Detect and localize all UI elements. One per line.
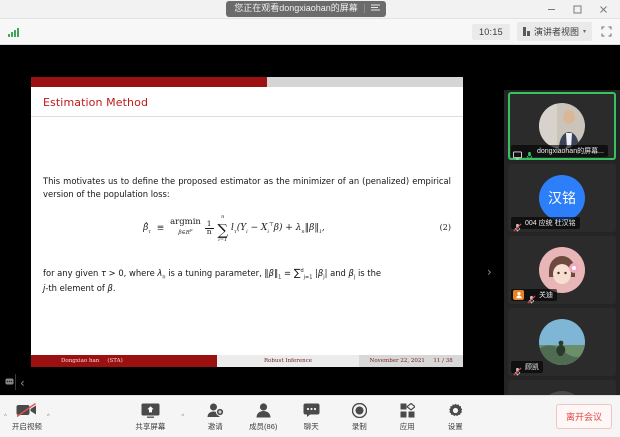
share-screen-button[interactable]: 共享屏幕 — [133, 402, 167, 432]
gear-icon — [448, 402, 463, 419]
slide-footer: Dongxiao han (STA) Robust Inference Nove… — [31, 355, 463, 367]
controls-right: 离开会议 — [556, 404, 620, 429]
screen-share-notice-text: 您正在观看dongxiaohan的屏幕 — [234, 4, 358, 13]
hamburger-icon[interactable] — [364, 4, 380, 13]
audio-options-caret[interactable]: ^ — [4, 414, 7, 420]
meeting-controls-bar: ^ 开启视频 ^ — [0, 395, 620, 437]
video-options-caret[interactable]: ^ — [47, 414, 50, 420]
footer-date: November 22, 2021 — [370, 358, 425, 364]
start-video-button[interactable]: 开启视频 — [10, 402, 44, 432]
screen-share-notice: 您正在观看dongxiaohan的屏幕 — [226, 1, 386, 17]
controls-center: 共享屏幕 ^ 邀请 — [133, 402, 472, 432]
chat-label: 聊天 — [304, 421, 319, 432]
share-screen-icon — [141, 402, 160, 419]
footer-page: 11 / 38 — [433, 358, 452, 364]
record-label: 录制 — [352, 421, 367, 432]
slide-footer-topic: Robust Inference — [217, 355, 360, 367]
zoom-meeting-window: 您正在观看dongxiaohan的屏幕 10:15 — [0, 0, 620, 437]
footer-author-name: Dongxiao han — [61, 358, 99, 364]
apps-grid-icon — [400, 402, 415, 419]
speaker-view-icon — [523, 27, 530, 36]
participant-namebar: 004 应统 杜汉铭 — [511, 217, 580, 229]
equation-argmin: argmin β∈Rp — [170, 218, 201, 237]
avatar — [539, 319, 585, 365]
invite-person-icon — [207, 402, 224, 419]
invite-button[interactable]: 邀请 — [198, 402, 232, 432]
window-controls — [538, 0, 616, 19]
avatar — [539, 247, 585, 293]
record-icon — [352, 402, 367, 419]
participant-namebar: 顾凯 — [511, 361, 543, 373]
mic-muted-icon — [513, 363, 522, 372]
share-screen-label: 共享屏幕 — [135, 421, 165, 432]
presentation-slide: Estimation Method This motivates us to d… — [31, 77, 463, 367]
invite-label: 邀请 — [208, 421, 223, 432]
slide-equation-row: β̂τ ≡ argmin β∈Rp 1n n ∑ i=1 — [43, 212, 451, 244]
slide-title-rule — [31, 116, 463, 117]
footer-author-affiliation: (STA) — [107, 358, 122, 364]
minimize-icon[interactable] — [538, 0, 564, 19]
participant-name: 关迪 — [539, 290, 553, 300]
title-bar: 您正在观看dongxiaohan的屏幕 — [0, 0, 620, 19]
chevron-down-icon: ▾ — [583, 28, 586, 35]
apps-button[interactable]: 应用 — [390, 402, 424, 432]
slide-header-bar — [31, 77, 463, 87]
participants-icon — [255, 402, 272, 419]
apps-label: 应用 — [400, 421, 415, 432]
mic-muted-icon — [513, 219, 522, 228]
slide-footer-author: Dongxiao han (STA) — [31, 355, 217, 367]
slide-equation: β̂τ ≡ argmin β∈Rp 1n n ∑ i=1 — [43, 212, 425, 244]
slide-title: Estimation Method — [31, 87, 463, 109]
equation-fraction: 1n — [205, 220, 214, 236]
participants-label: 成员(86) — [249, 421, 277, 432]
toolbar-divider — [15, 374, 16, 390]
meeting-info-right: 10:15 演讲者视图 ▾ — [472, 22, 620, 41]
close-icon[interactable] — [590, 0, 616, 19]
equation-summation: n ∑ i=1 — [217, 212, 228, 244]
next-slide-arrow[interactable]: › — [487, 265, 492, 279]
slide-body: This motivates us to define the proposed… — [31, 175, 463, 295]
share-options-caret[interactable]: ^ — [181, 414, 184, 420]
participant-namebar: dongxiaohan的屏幕... — [511, 145, 608, 157]
previous-slide-arrow[interactable]: ‹ — [20, 376, 25, 390]
avatar — [539, 103, 585, 149]
controls-left: ^ 开启视频 ^ — [0, 402, 50, 432]
participant-name: 004 应统 杜汉铭 — [525, 218, 576, 228]
record-button[interactable]: 录制 — [342, 402, 376, 432]
leave-meeting-button[interactable]: 离开会议 — [556, 404, 612, 429]
participant-tile[interactable]: dongxiaohan的屏幕... — [508, 92, 616, 160]
participant-name: dongxiaohan的屏幕... — [537, 146, 604, 156]
settings-button[interactable]: 设置 — [438, 402, 472, 432]
participant-tile[interactable]: 关迪 — [508, 236, 616, 304]
slide-paragraph-1: This motivates us to define the proposed… — [43, 175, 451, 201]
participant-tile[interactable]: 汉铭 004 应统 杜汉铭 — [508, 164, 616, 232]
participant-rail[interactable]: dongxiaohan的屏幕... 汉铭 004 应统 杜汉铭 — [504, 90, 620, 437]
equation-number: (2) — [425, 223, 451, 232]
host-badge-icon — [513, 290, 524, 300]
fullscreen-icon[interactable] — [599, 24, 614, 39]
participants-button[interactable]: 成员(86) — [246, 402, 280, 432]
view-mode-label: 演讲者视图 — [534, 25, 579, 38]
shared-screen-stage: Estimation Method This motivates us to d… — [0, 45, 620, 395]
video-off-icon — [16, 402, 37, 419]
chat-icon — [303, 402, 320, 419]
maximize-icon[interactable] — [564, 0, 590, 19]
participant-namebar: 关迪 — [511, 289, 557, 301]
view-mode-selector[interactable]: 演讲者视图 ▾ — [517, 22, 592, 41]
avatar: 汉铭 — [539, 175, 585, 221]
meeting-info-bar: 10:15 演讲者视图 ▾ — [0, 19, 620, 45]
meeting-timer: 10:15 — [472, 24, 510, 40]
participant-tile[interactable]: 顾凯 — [508, 308, 616, 376]
settings-label: 设置 — [448, 421, 463, 432]
chat-bubble-icon[interactable] — [2, 376, 16, 388]
slide-paragraph-2: for any given τ > 0, where λn is a tunin… — [43, 266, 451, 295]
participant-name: 顾凯 — [525, 362, 539, 372]
signal-strength-icon[interactable] — [8, 26, 19, 37]
slide-footer-meta: November 22, 2021 11 / 38 — [359, 355, 463, 367]
mic-on-icon — [525, 147, 534, 156]
start-video-label: 开启视频 — [12, 421, 42, 432]
chat-button[interactable]: 聊天 — [294, 402, 328, 432]
screen-share-icon — [513, 147, 522, 156]
mic-muted-icon — [527, 291, 536, 300]
